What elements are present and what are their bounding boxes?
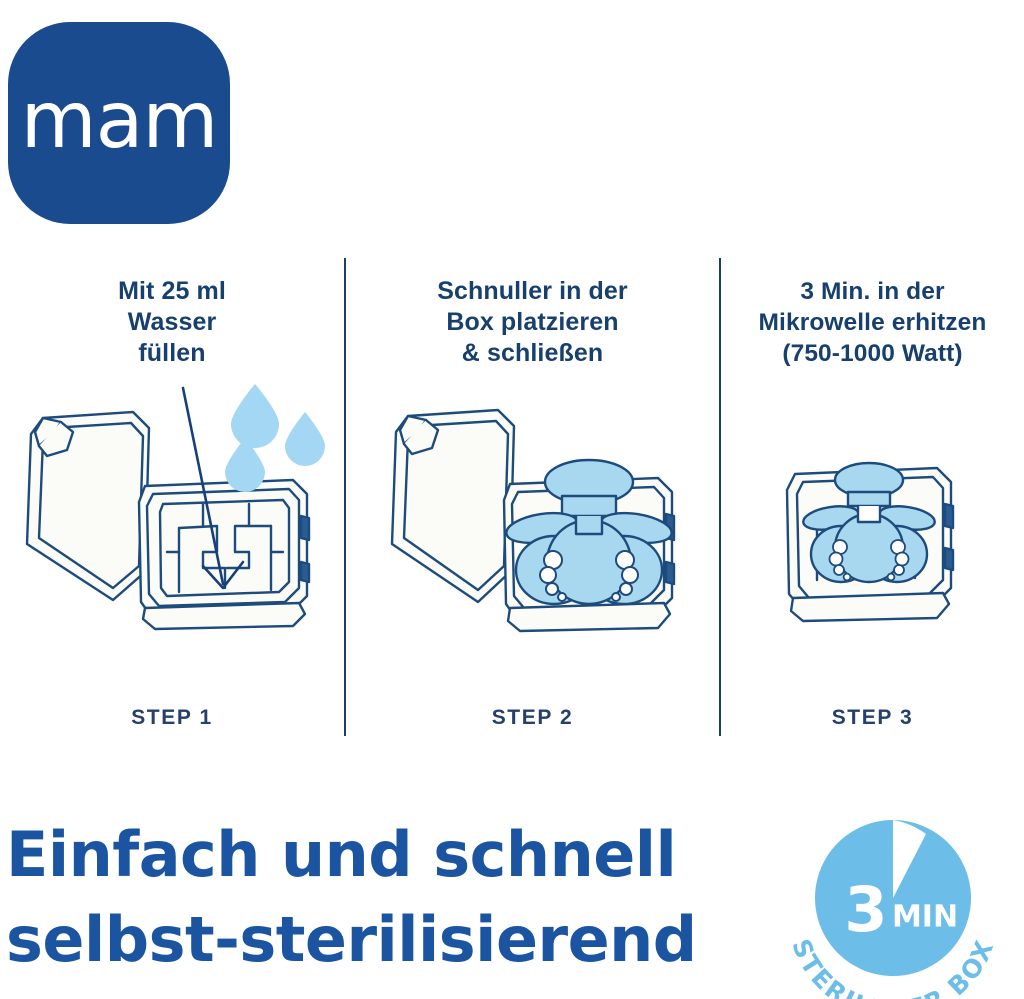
step-2-label: STEP 2 (346, 706, 719, 730)
step-3-caption: 3 Min. in der Mikrowelle erhitzen (750-1… (721, 276, 1024, 369)
sterilisier-box-badge: 3 MIN STERILISIER BOX (762, 806, 1024, 999)
headline-line-2: selbst-sterilisierend (6, 897, 766, 982)
open-box-with-pacifier-icon (378, 376, 688, 656)
badge-unit: MIN (892, 900, 958, 935)
step-2-caption: Schnuller in der Box platzieren & schlie… (346, 276, 719, 369)
step-3-illustration (721, 376, 1024, 676)
step-3-label: STEP 3 (721, 706, 1024, 730)
step-panel-3: 3 Min. in der Mikrowelle erhitzen (750-1… (721, 258, 1024, 736)
badge-disc (815, 820, 971, 976)
step-1-label: STEP 1 (0, 706, 344, 730)
step-2-caption-line-3: & schließen (462, 339, 603, 367)
step-3-caption-line-1: 3 Min. in der (800, 278, 944, 305)
steps-strip: Mit 25 ml Wasser füllen (0, 258, 1024, 738)
mam-logo: mam (8, 22, 230, 224)
step-2-caption-line-1: Schnuller in der (437, 277, 628, 305)
step-2-caption-line-2: Box platzieren (446, 308, 618, 336)
step-2-illustration (346, 376, 719, 676)
step-1-caption-line-1: Mit 25 ml (118, 277, 226, 305)
water-drop-icons (225, 384, 325, 492)
closed-box-with-pacifier-icon (773, 448, 973, 648)
step-1-caption-line-3: füllen (138, 339, 205, 367)
headline: Einfach und schnell selbst-sterilisieren… (6, 812, 766, 982)
step-1-caption: Mit 25 ml Wasser füllen (0, 276, 344, 369)
step-panel-2: Schnuller in der Box platzieren & schlie… (346, 258, 719, 736)
three-minute-badge-icon: 3 MIN STERILISIER BOX (762, 806, 1024, 999)
step-3-caption-line-3: (750-1000 Watt) (782, 340, 962, 367)
headline-line-1: Einfach und schnell (6, 812, 766, 897)
step-panel-1: Mit 25 ml Wasser füllen (0, 258, 344, 736)
brand-wordmark: mam (21, 82, 218, 160)
step-1-caption-line-2: Wasser (128, 308, 217, 336)
step-1-illustration (0, 376, 344, 676)
open-box-with-water-drops-icon (17, 376, 327, 656)
step-3-caption-line-2: Mikrowelle erhitzen (759, 309, 987, 336)
badge-number: 3 (844, 873, 887, 946)
